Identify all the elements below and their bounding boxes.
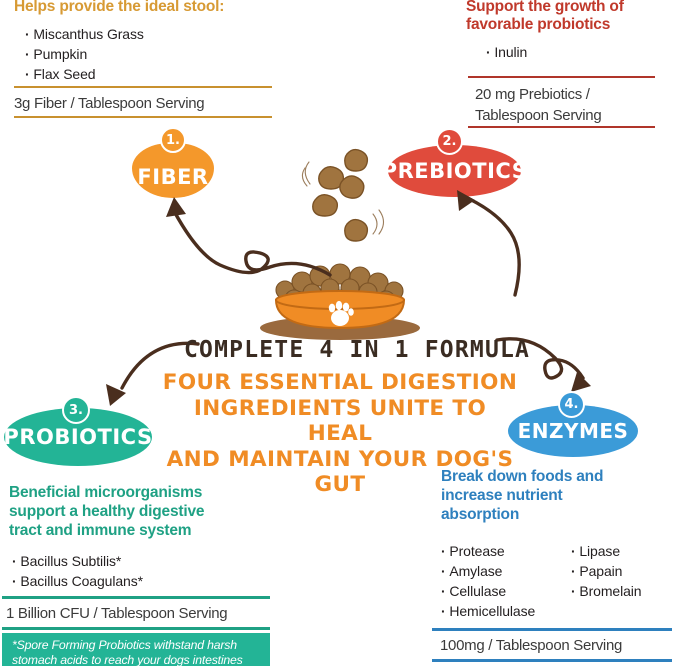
arrow-to-prebiotics bbox=[415, 190, 525, 300]
enzymes-bullet-item: Protease bbox=[441, 541, 571, 561]
fiber-bullet-item: Pumpkin bbox=[25, 44, 294, 64]
formula-title: COMPLETE 4 IN 1 FORMULA bbox=[184, 337, 496, 363]
formula-sub-line1: FOUR ESSENTIAL DIGESTION bbox=[160, 370, 520, 396]
spore-note-line1: *Spore Forming Probiotics withstand hars… bbox=[12, 638, 262, 653]
fiber-bullet-list: Miscanthus Grass Pumpkin Flax Seed bbox=[25, 24, 294, 84]
enzymes-serving: 100mg / Tablespoon Serving bbox=[440, 636, 679, 656]
prebiotics-heading-line1: Support the growth of bbox=[466, 0, 671, 16]
enzymes-heading-line2: increase nutrient bbox=[441, 486, 671, 505]
enzymes-bullet-item: Hemicellulase bbox=[441, 601, 571, 621]
probiotics-section: Beneficial microorganisms support a heal… bbox=[9, 483, 299, 591]
fiber-badge-number: 1. bbox=[160, 127, 186, 153]
enzymes-bullet-item: Cellulase bbox=[441, 581, 571, 601]
prebiotics-serving-line2: Tablespoon Serving bbox=[475, 105, 675, 126]
probiotics-heading-line3: tract and immune system bbox=[9, 521, 299, 540]
probiotics-badge-number: 3. bbox=[62, 396, 90, 424]
enzymes-heading-line3: absorption bbox=[441, 505, 671, 524]
prebiotics-bullet-list: Inulin bbox=[486, 42, 671, 62]
formula-sub-line2: INGREDIENTS UNITE TO HEAL bbox=[160, 396, 520, 447]
enzymes-divider-bottom bbox=[432, 659, 672, 662]
fiber-divider-top bbox=[14, 86, 272, 88]
enzymes-section: Break down foods and increase nutrient a… bbox=[441, 467, 671, 524]
probiotics-heading-line1: Beneficial microorganisms bbox=[9, 483, 299, 502]
probiotics-bullet-list: Bacillus Subtilis* Bacillus Coagulans* bbox=[12, 551, 299, 591]
enzymes-bullet-item: Papain bbox=[571, 561, 676, 581]
probiotics-spore-note: *Spore Forming Probiotics withstand hars… bbox=[2, 633, 270, 666]
prebiotics-serving-line1: 20 mg Prebiotics / bbox=[475, 84, 675, 105]
enzymes-bullet-item: Lipase bbox=[571, 541, 676, 561]
fiber-heading: Helps provide the ideal stool: bbox=[14, 0, 294, 16]
enzymes-bullet-item: Bromelain bbox=[571, 581, 676, 601]
enzymes-bullet-item: Amylase bbox=[441, 561, 571, 581]
fiber-serving: 3g Fiber / Tablespoon Serving bbox=[14, 94, 289, 114]
probiotics-bullet-item: Bacillus Subtilis* bbox=[12, 551, 299, 571]
enzymes-bullet-col2: Lipase Papain Bromelain bbox=[571, 541, 676, 621]
enzymes-badge-number: 4. bbox=[558, 391, 585, 418]
enzymes-bullet-columns: Protease Amylase Cellulase Hemicellulase… bbox=[441, 541, 676, 621]
probiotics-serving: 1 Billion CFU / Tablespoon Serving bbox=[6, 604, 286, 624]
prebiotics-section: Support the growth of favorable probioti… bbox=[466, 0, 671, 62]
fiber-divider-bottom bbox=[14, 116, 272, 118]
prebiotics-badge-number: 2. bbox=[436, 128, 463, 155]
prebiotics-heading-line2: favorable probiotics bbox=[466, 16, 671, 34]
fiber-bullet-item: Miscanthus Grass bbox=[25, 24, 294, 44]
fiber-bullet-item: Flax Seed bbox=[25, 64, 294, 84]
infographic-canvas: Helps provide the ideal stool: Miscanthu… bbox=[0, 0, 679, 666]
fiber-section: Helps provide the ideal stool: Miscanthu… bbox=[14, 0, 294, 84]
enzymes-bullet-col1: Protease Amylase Cellulase Hemicellulase bbox=[441, 541, 571, 621]
probiotics-divider-top bbox=[2, 596, 270, 599]
enzymes-divider-top bbox=[432, 628, 672, 631]
probiotics-divider-bottom bbox=[2, 627, 270, 630]
prebiotics-divider-top bbox=[468, 76, 655, 78]
arrow-to-fiber bbox=[160, 195, 340, 285]
prebiotics-serving: 20 mg Prebiotics / Tablespoon Serving bbox=[475, 84, 675, 126]
probiotics-heading-line2: support a healthy digestive bbox=[9, 502, 299, 521]
probiotics-heading: Beneficial microorganisms support a heal… bbox=[9, 483, 299, 540]
prebiotics-divider-bottom bbox=[468, 126, 655, 128]
prebiotics-bullet-item: Inulin bbox=[486, 42, 671, 62]
enzymes-heading-line1: Break down foods and bbox=[441, 467, 671, 486]
probiotics-bullet-item: Bacillus Coagulans* bbox=[12, 571, 299, 591]
enzymes-heading: Break down foods and increase nutrient a… bbox=[441, 467, 671, 524]
